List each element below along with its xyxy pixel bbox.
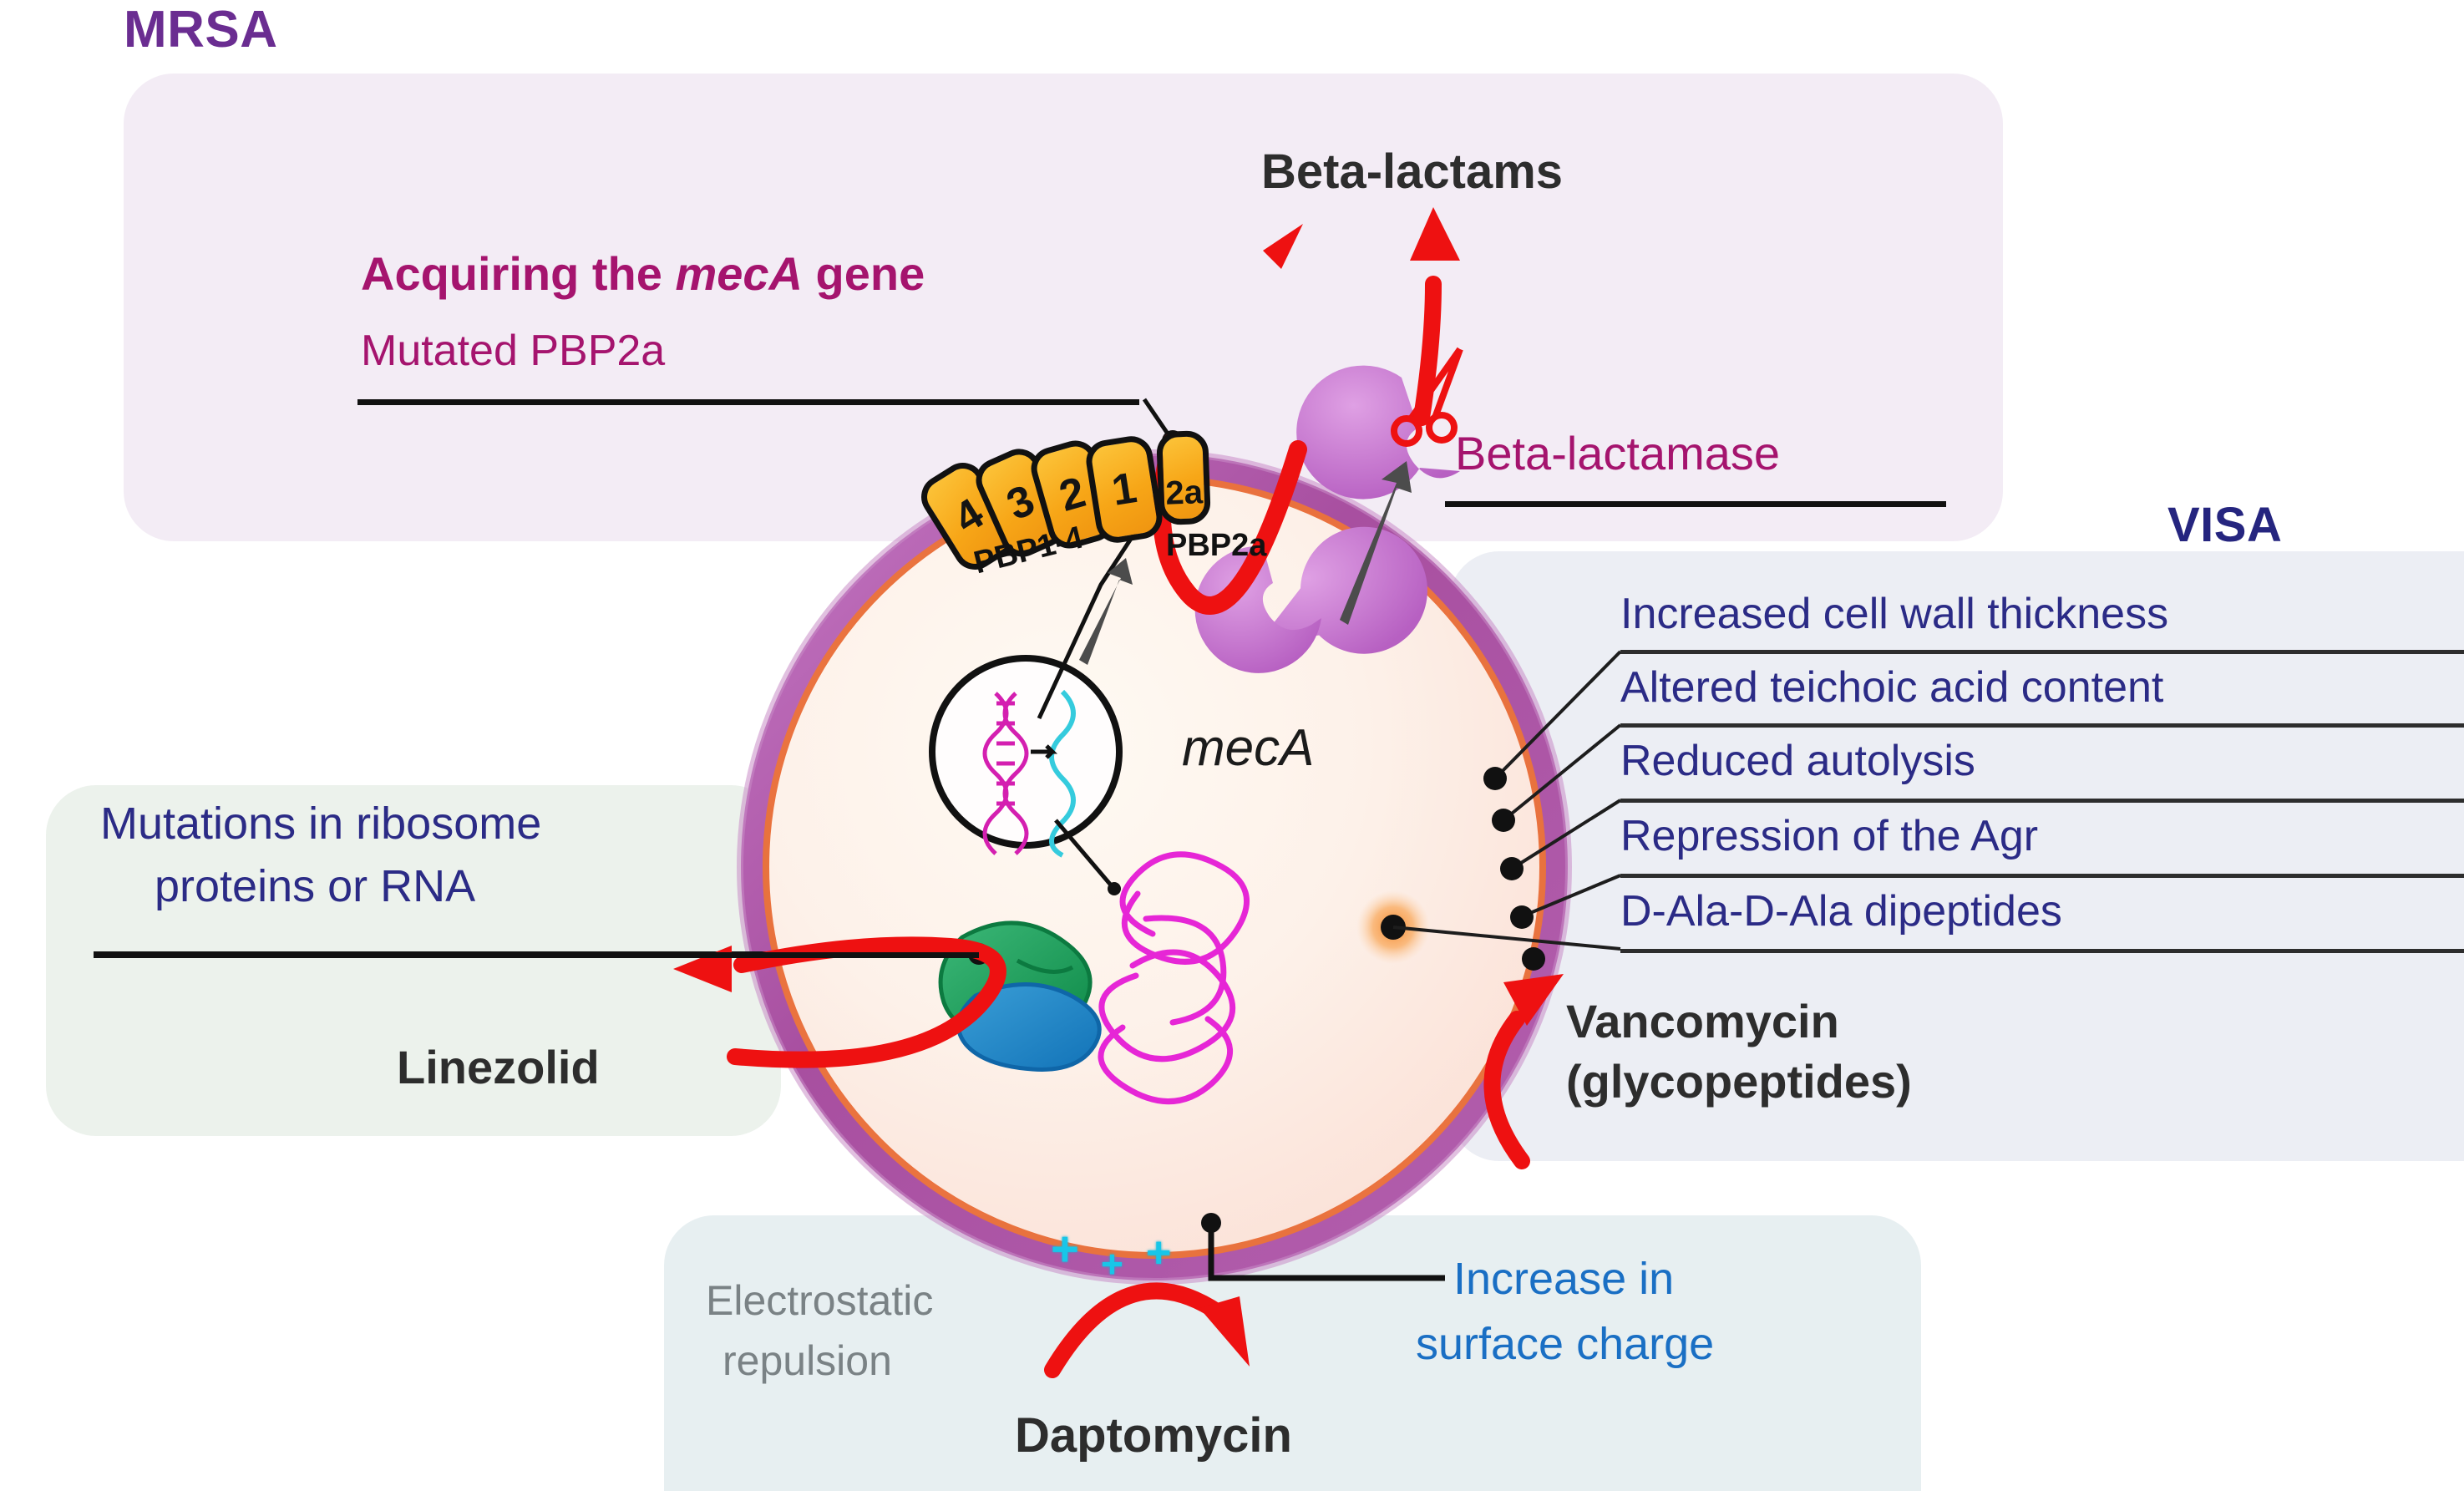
- label-ribosome-mutation-line2: proteins or RNA: [155, 860, 475, 912]
- label-meca-gene: mecA: [1182, 718, 1314, 778]
- label-vancomycin: Vancomycin: [1566, 994, 1839, 1048]
- visa-underline-1: [1620, 650, 2464, 654]
- visa-underline-4: [1620, 874, 2464, 878]
- visa-item-5: D-Ala-D-Ala dipeptides: [1620, 886, 2062, 936]
- leader-dot: [1108, 882, 1121, 895]
- arrowhead-betalactam-2: [1410, 207, 1460, 261]
- pbp-box-2a: 2a: [1156, 430, 1211, 525]
- visa-item-3: Reduced autolysis: [1620, 736, 1975, 786]
- wall-dot-3: [1500, 857, 1524, 880]
- arrow-daptomycin-repulsion: [1052, 1291, 1226, 1370]
- underline-beta-lactamase: [1445, 501, 1946, 507]
- label-pbp2a: PBP2a: [1166, 528, 1266, 564]
- gene-name-meca: mecA: [675, 247, 803, 300]
- positive-charge-icon-2: +: [1101, 1241, 1123, 1286]
- wall-dot-1: [1483, 767, 1507, 790]
- positive-charge-icon-3: +: [1146, 1228, 1171, 1278]
- label-acquiring-meca: Acquiring the mecA gene: [361, 246, 925, 301]
- visa-underline-5: [1620, 949, 2464, 953]
- visa-underline-2: [1620, 723, 2464, 728]
- leader-dot-membrane: [1201, 1213, 1221, 1233]
- label-beta-lactamase: Beta-lactamase: [1455, 426, 1780, 480]
- label-mutated-pbp2a: Mutated PBP2a: [361, 326, 665, 376]
- arrowhead-betalactam-1: [1263, 224, 1303, 269]
- arrow-betalactam-block-2: [1422, 284, 1433, 418]
- visa-item-4: Repression of the Agr: [1620, 811, 2038, 861]
- positive-charge-icon-1: +: [1051, 1221, 1079, 1277]
- label-beta-lactams: Beta-lactams: [1261, 144, 1563, 200]
- label-surface-charge-line1: Increase in: [1453, 1253, 1674, 1305]
- underline-ribosome-mutation: [94, 952, 979, 958]
- visa-item-2: Altered teichoic acid content: [1620, 662, 2163, 713]
- label-ribosome-mutation-line1: Mutations in ribosome: [100, 798, 541, 849]
- wall-dot-4: [1510, 905, 1534, 929]
- group-title-visa: VISA: [2167, 497, 2282, 553]
- label-daptomycin: Daptomycin: [1015, 1407, 1292, 1463]
- acquiring-prefix: Acquiring the: [361, 247, 675, 300]
- arrowhead-daptomycin: [1199, 1296, 1250, 1367]
- visa-underline-3: [1620, 799, 2464, 803]
- label-linezolid: Linezolid: [397, 1040, 600, 1094]
- group-title-mrsa: MRSA: [124, 0, 278, 59]
- underline-mutated-pbp2a: [357, 399, 1139, 405]
- label-electrostatic-line2: repulsion: [722, 1336, 892, 1385]
- wall-dot-2: [1492, 809, 1515, 832]
- acquiring-suffix: gene: [803, 247, 925, 300]
- label-glycopeptides: (glycopeptides): [1566, 1054, 1912, 1108]
- wall-dot-5: [1522, 947, 1545, 971]
- label-surface-charge-line2: surface charge: [1416, 1318, 1714, 1370]
- visa-item-1: Increased cell wall thickness: [1620, 589, 2168, 639]
- label-electrostatic-line1: Electrostatic: [706, 1276, 933, 1325]
